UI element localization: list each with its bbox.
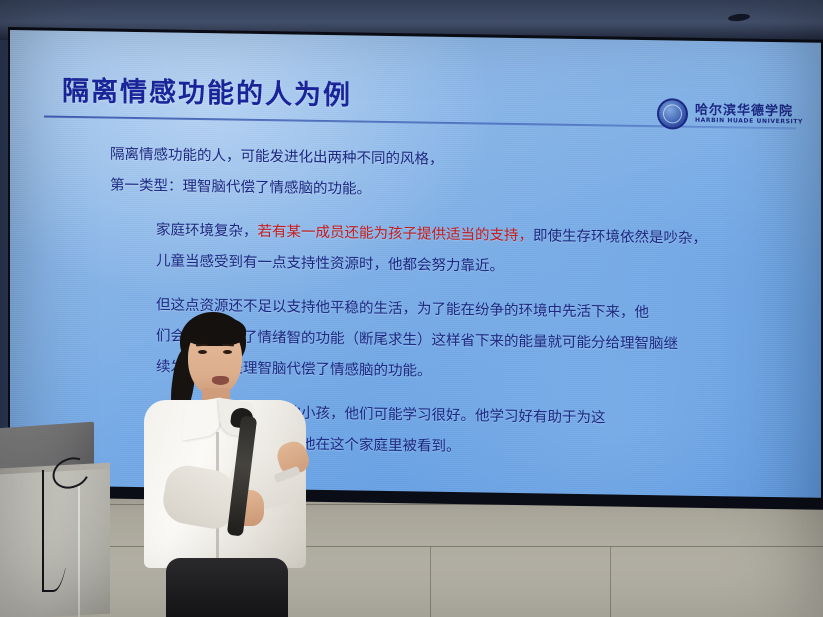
highlighted-text: 若有某一成员还能为孩子提供适当的支持， bbox=[258, 224, 534, 244]
slide-paragraph: 隔离情感功能的人，可能发进化出两种不同的风格，第一类型：理智脑代偿了情感脑的功能… bbox=[110, 140, 810, 213]
slide-text: 家庭环境复杂， bbox=[156, 222, 258, 240]
slide-text: 隔离情感功能的人，可能发进化出两种不同的风格， bbox=[110, 147, 444, 168]
slide-paragraph: 家庭环境复杂，若有某一成员还能为孩子提供适当的支持，即使生存环境依然是吵杂，儿童… bbox=[110, 215, 810, 288]
trousers bbox=[166, 558, 288, 617]
projection-screen: 隔离情感功能的人为例 哈尔滨华德学院 HARBIN HUADE UNIVERSI… bbox=[10, 30, 821, 498]
eye-right bbox=[223, 350, 232, 354]
eye-left bbox=[198, 350, 207, 354]
university-seal-icon bbox=[657, 98, 688, 129]
mouth bbox=[212, 376, 229, 385]
presenter bbox=[138, 300, 348, 617]
slide-text: 即使生存环境依然是吵杂， bbox=[533, 228, 707, 247]
slide-text: 儿童当感受到有一点支持性资源时，他都会努力靠近。 bbox=[156, 253, 504, 274]
lecture-scene: 隔离情感功能的人为例 哈尔滨华德学院 HARBIN HUADE UNIVERSI… bbox=[0, 0, 823, 617]
slide-text: 第一类型：理智脑代偿了情感脑的功能。 bbox=[110, 178, 371, 198]
university-logo: 哈尔滨华德学院 HARBIN HUADE UNIVERSITY bbox=[657, 98, 803, 131]
fringe bbox=[184, 316, 246, 346]
logo-english-name: HARBIN HUADE UNIVERSITY bbox=[695, 118, 803, 126]
slide-title: 隔离情感功能的人为例 bbox=[62, 69, 352, 113]
